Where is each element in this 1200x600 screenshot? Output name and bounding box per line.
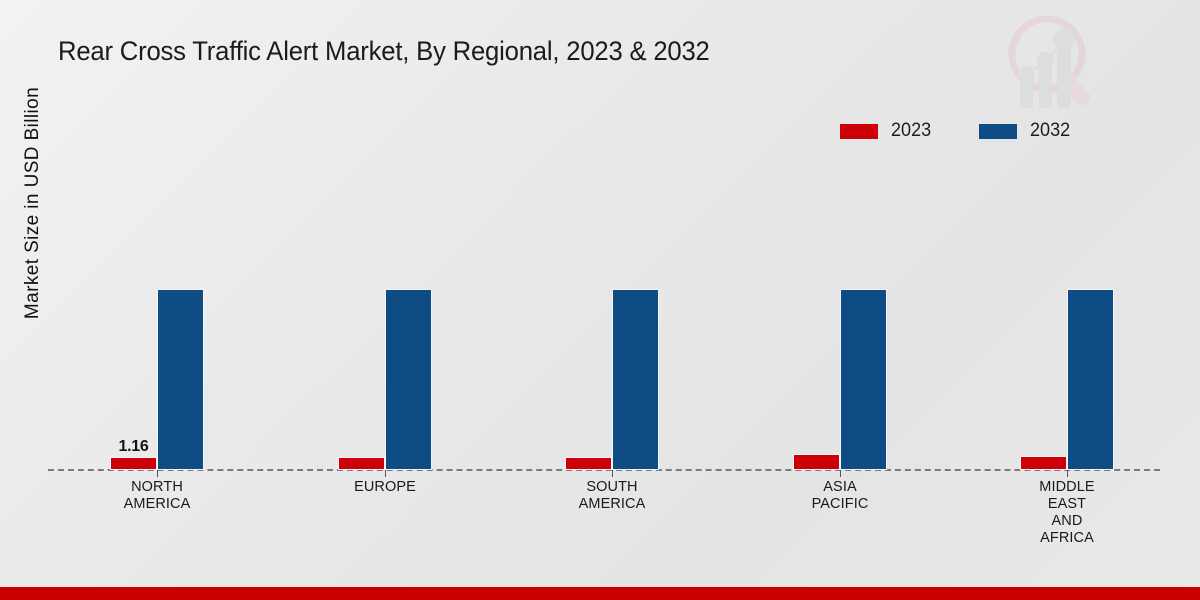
bar-2032[interactable] [840,289,887,470]
bar-group: MIDDLEEASTANDAFRICA [1020,270,1114,470]
x-axis-tick [385,470,386,477]
bar-pair [793,270,887,470]
footer-accent-band [0,587,1200,600]
x-axis-category-label: EUROPE [354,479,416,496]
chart-canvas: Rear Cross Traffic Alert Market, By Regi… [0,0,1200,600]
bar-group: SOUTHAMERICA [565,270,659,470]
bar-pair [338,270,432,470]
bar-2023[interactable] [1020,456,1067,470]
bar-pair [1020,270,1114,470]
x-axis-tick [840,470,841,477]
bar-value-label: 1.16 [119,438,149,456]
x-axis-tick [612,470,613,477]
bar-2032[interactable] [1067,289,1114,470]
bar-2023[interactable]: 1.16 [110,457,157,470]
bar-2023[interactable] [793,454,840,470]
bar-pair [565,270,659,470]
bar-group: 1.16NORTHAMERICA [110,270,204,470]
x-axis-tick [1067,470,1068,477]
bar-group: ASIAPACIFIC [793,270,887,470]
bar-group: EUROPE [338,270,432,470]
bar-2023[interactable] [565,457,612,470]
bar-2032[interactable] [612,289,659,470]
bar-2023[interactable] [338,457,385,470]
bar-2032[interactable] [157,289,204,470]
plot-area: 1.16NORTHAMERICAEUROPESOUTHAMERICAASIAPA… [0,0,1200,600]
bar-pair: 1.16 [110,270,204,470]
bar-2032[interactable] [385,289,432,470]
x-axis-category-label: MIDDLEEASTANDAFRICA [1039,479,1094,547]
x-axis-category-label: NORTHAMERICA [124,479,191,513]
x-axis-category-label: ASIAPACIFIC [812,479,869,513]
x-axis-category-label: SOUTHAMERICA [579,479,646,513]
x-axis-tick [157,470,158,477]
